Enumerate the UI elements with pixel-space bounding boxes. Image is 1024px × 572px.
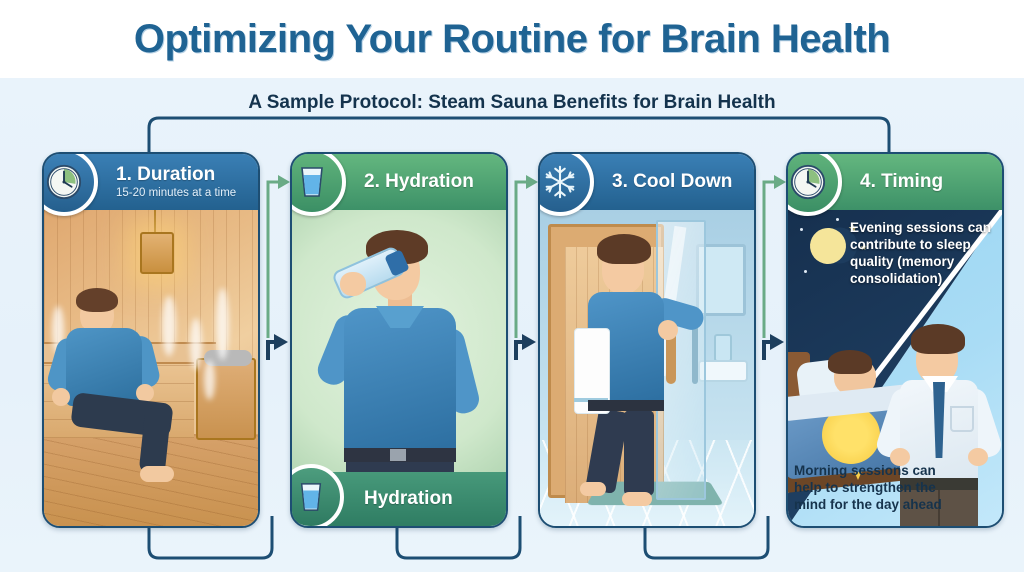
scene-cool-down: [540, 210, 754, 526]
step-title: 2. Hydration: [364, 172, 474, 192]
step-header-hydration: 2. Hydration: [292, 154, 506, 210]
step-header-duration: 1. Duration 15-20 minutes at a time: [44, 154, 258, 210]
clock-icon: [42, 152, 98, 216]
step-subtitle: 15-20 minutes at a time: [116, 187, 236, 199]
snowflake-icon: [538, 152, 594, 216]
page-title: Optimizing Your Routine for Brain Health: [134, 17, 890, 62]
evening-description: Evening sessions can contribute to sleep…: [850, 220, 992, 288]
step-title: 3. Cool Down: [612, 172, 732, 192]
water-glass-icon: [292, 464, 344, 526]
step-header-timing: 4. Timing: [788, 154, 1002, 210]
scene-timing-split: ★ ★ Evening sessions can contribute to s…: [788, 210, 1002, 526]
step-card-duration[interactable]: 1. Duration 15-20 minutes at a time: [42, 152, 260, 528]
scene-sauna: [44, 210, 258, 526]
step-card-cool-down[interactable]: 3. Cool Down: [538, 152, 756, 528]
step-card-hydration[interactable]: 2. Hydration Hydration: [290, 152, 508, 528]
morning-description: Morning sessions can help to strengthen …: [794, 463, 946, 514]
step-footer-hydration: Hydration: [292, 472, 506, 526]
scene-hydration: Hydration: [292, 210, 506, 526]
step-card-timing[interactable]: 4. Timing ★ ★ E: [786, 152, 1004, 528]
step-title: 4. Timing: [860, 172, 943, 192]
title-band: Optimizing Your Routine for Brain Health: [0, 0, 1024, 78]
step-footer-label: Hydration: [364, 488, 453, 510]
clock-icon: [786, 152, 842, 216]
water-glass-icon: [290, 152, 346, 216]
subtitle: A Sample Protocol: Steam Sauna Benefits …: [0, 92, 1024, 114]
step-header-cool-down: 3. Cool Down: [540, 154, 754, 210]
step-title: 1. Duration: [116, 165, 236, 185]
